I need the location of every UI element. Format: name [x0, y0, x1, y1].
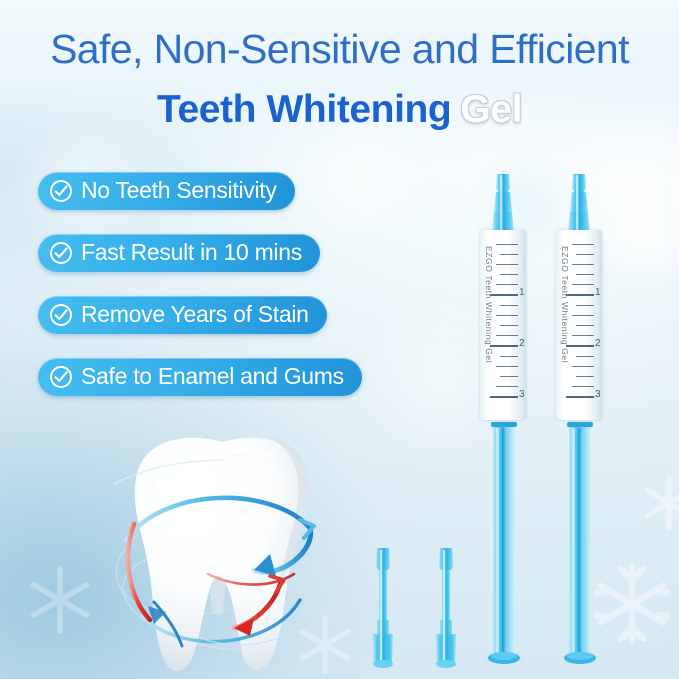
syringe-tip-icon: [562, 172, 596, 238]
feature-row: Fast Result in 10 mins: [38, 234, 362, 296]
feature-label: No Teeth Sensitivity: [81, 179, 277, 204]
graduation-tick: [500, 356, 518, 357]
syringe-plunger: [488, 418, 520, 668]
graduation-tick: [496, 264, 518, 265]
graduation-tick: [576, 376, 594, 377]
syringe-brand-label: EZGO Teeth Whitening Gel: [560, 246, 570, 363]
graduation-tick: [576, 254, 594, 255]
graduation-tick: [576, 356, 594, 357]
graduation-label: 2: [519, 338, 525, 349]
graduation-tick: [496, 386, 518, 387]
feature-row: No Teeth Sensitivity: [38, 172, 362, 234]
graduation-tick: [496, 335, 518, 336]
graduation-tick: [572, 366, 594, 367]
graduation-tick: [500, 254, 518, 255]
feature-label: Safe to Enamel and Gums: [81, 365, 344, 390]
feature-row: Remove Years of Stain: [38, 296, 362, 358]
circle-check-icon: [49, 303, 73, 327]
brand-product-name: Teeth Whitening: [157, 88, 451, 131]
headline-primary: Safe, Non-Sensitive and Efficient: [0, 26, 679, 73]
graduation-tick: [500, 305, 518, 306]
product-poster: Safe, Non-Sensitive and Efficient Teeth …: [0, 0, 679, 679]
syringe-right: 1 2 3 EZGO Teeth Whitening Gel: [548, 172, 610, 672]
graduation-tick: [572, 335, 594, 336]
graduation-tick: [496, 284, 518, 285]
graduation-tick: [576, 274, 594, 275]
graduation-tick: [572, 264, 594, 265]
graduation-tick: [496, 366, 518, 367]
graduation-tick: [572, 284, 594, 285]
graduation-tick: [496, 315, 518, 316]
product-type-word: Gel: [460, 88, 522, 131]
graduation-tick: [572, 386, 594, 387]
circle-check-icon: [49, 365, 73, 389]
graduation-tick: [576, 325, 594, 326]
circle-check-icon: [49, 179, 73, 203]
graduation-tick: [500, 376, 518, 377]
graduation-tick: [572, 315, 594, 316]
graduation-tick-1: [490, 294, 518, 296]
graduation-tick: [496, 244, 518, 245]
graduation-tick-3: [490, 396, 518, 398]
syringe-plunger: [564, 418, 596, 668]
applicator-tip-left: [365, 546, 401, 677]
graduation-tick-3: [566, 396, 594, 398]
graduation-tick-2: [566, 345, 594, 347]
syringe-brand-label: EZGO Teeth Whitening Gel: [484, 246, 494, 363]
graduation-label: 3: [519, 389, 525, 400]
headline-secondary: Teeth WhiteningGel: [0, 88, 679, 132]
graduation-tick: [576, 305, 594, 306]
feature-pill-safe-enamel-gums[interactable]: Safe to Enamel and Gums: [38, 358, 362, 396]
applicator-tip-right: [428, 546, 464, 677]
graduation-tick: [500, 325, 518, 326]
feature-pill-no-teeth-sensitivity[interactable]: No Teeth Sensitivity: [38, 172, 295, 210]
feature-label: Remove Years of Stain: [81, 303, 309, 328]
graduation-label: 1: [595, 287, 601, 298]
graduation-tick-1: [566, 294, 594, 296]
graduation-tick: [572, 244, 594, 245]
graduation-label: 1: [519, 287, 525, 298]
feature-label: Fast Result in 10 mins: [81, 241, 302, 266]
graduation-label: 3: [595, 389, 601, 400]
feature-pill-remove-stain[interactable]: Remove Years of Stain: [38, 296, 327, 334]
syringe-left: 1 2 3 EZGO Teeth Whitening Gel: [472, 172, 534, 672]
feature-list: No Teeth Sensitivity Fast Result in 10 m…: [38, 172, 362, 420]
feature-row: Safe to Enamel and Gums: [38, 358, 362, 420]
graduation-label: 2: [595, 338, 601, 349]
circle-check-icon: [49, 241, 73, 265]
molar-tooth-illustration: [104, 424, 340, 679]
feature-pill-fast-result[interactable]: Fast Result in 10 mins: [38, 234, 320, 272]
graduation-tick: [500, 274, 518, 275]
syringe-tip-icon: [486, 172, 520, 238]
graduation-tick-2: [490, 345, 518, 347]
